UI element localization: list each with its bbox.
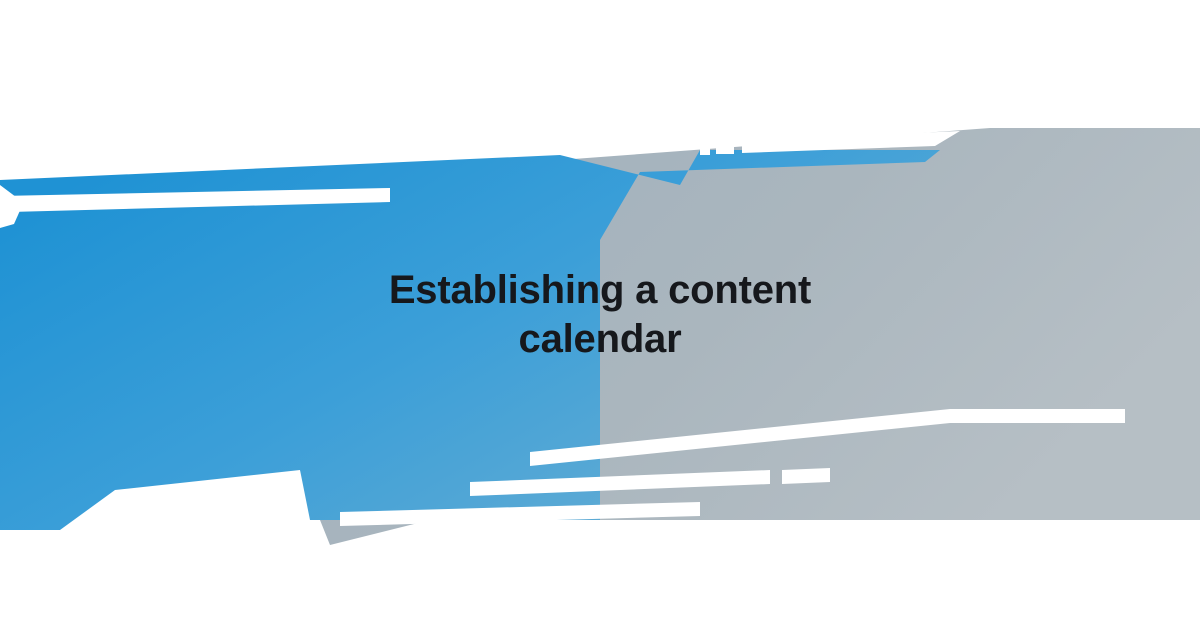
banner-background	[0, 0, 1200, 630]
white-stripe-bottom-center-2	[782, 468, 830, 484]
banner-graphic: Establishing a content calendar	[0, 0, 1200, 630]
white-stripe-top-right-dash-1	[700, 143, 710, 155]
white-stripe-top-right-dash-2	[716, 142, 734, 154]
